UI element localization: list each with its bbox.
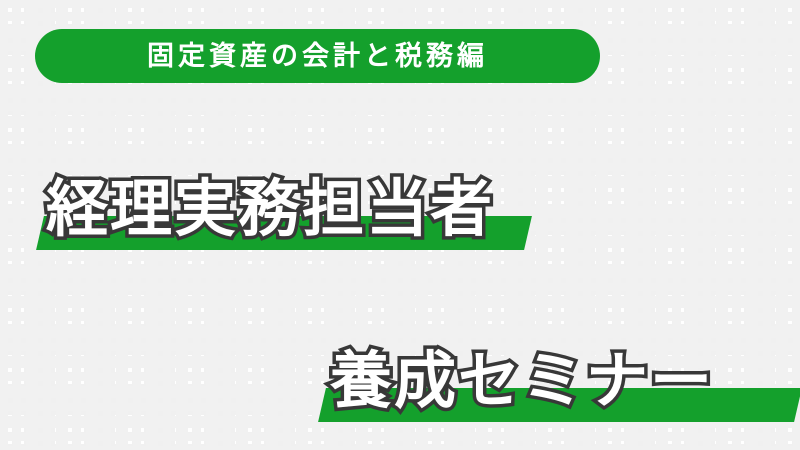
topic-badge: 固定資産の会計と税務編: [35, 29, 600, 83]
topic-badge-label: 固定資産の会計と税務編: [147, 43, 488, 70]
seminar-banner: 固定資産の会計と税務編 経理実務担当者 養成セミナー 開催方法 オンライン(Zo…: [0, 0, 800, 450]
headline-text-2: 養成セミナー: [330, 338, 714, 424]
headline-line-1: 経理実務担当者: [36, 166, 516, 252]
headline-text-1: 経理実務担当者: [46, 166, 494, 252]
headline-line-2: 養成セミナー: [318, 338, 788, 424]
